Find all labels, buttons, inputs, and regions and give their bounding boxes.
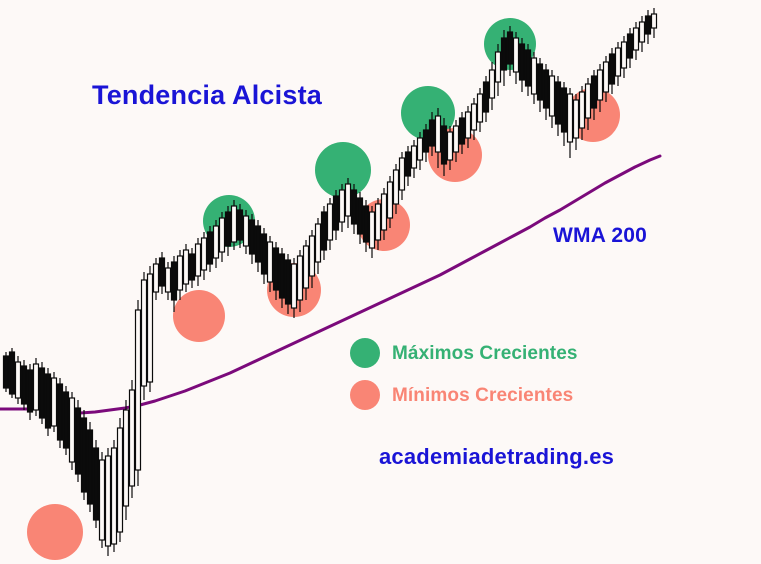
legend-item-maximos: Máximos Crecientes [350, 336, 578, 370]
candle-body-bear [46, 374, 51, 428]
candle-body-bear [250, 220, 255, 254]
candle-body-bull [418, 138, 423, 160]
candle-body-bull [316, 224, 321, 262]
candle-body-bear [322, 212, 327, 250]
candle-body-bear [160, 258, 165, 286]
candle-body-bull [154, 264, 159, 292]
candle-body-bull [328, 204, 333, 240]
candle-body-bear [172, 262, 177, 300]
candle-body-bull [214, 226, 219, 258]
candle-body-bull [382, 194, 387, 230]
candle-body-bull [454, 126, 459, 152]
candle-body-bear [442, 126, 447, 164]
candle-body-bear [508, 32, 513, 64]
candle-body-bear [502, 38, 507, 70]
candle-body-bull [202, 238, 207, 270]
candle-body-bull [586, 84, 591, 118]
candle-body-bear [562, 88, 567, 132]
candle-body-bull [310, 236, 315, 276]
candle-body-bear [334, 196, 339, 230]
candle-body-bull [490, 70, 495, 98]
candle-body-bull [130, 390, 135, 486]
candle-body-bear [538, 64, 543, 100]
candle-body-bear [88, 430, 93, 504]
candle-body-bear [274, 248, 279, 290]
candle-body-bull [298, 256, 303, 300]
candle-body-bull [640, 22, 645, 42]
legend-swatch-green-circle-icon [350, 338, 380, 368]
chart-legend: Máximos Crecientes Mínimos Crecientes [350, 336, 578, 412]
candle-body-bull [304, 246, 309, 288]
candle-body-bull [166, 268, 171, 292]
candle-body-bear [262, 234, 267, 274]
candle-body-bull [472, 104, 477, 130]
candle-body-bull [514, 38, 519, 72]
candle-body-bull [136, 310, 141, 470]
candle-body-bull [70, 398, 75, 462]
candle-body-bull [148, 274, 153, 382]
candle-body-bull [634, 28, 639, 50]
legend-label-maximos: Máximos Crecientes [392, 344, 578, 363]
candle-body-bear [460, 118, 465, 144]
candle-body-bull [184, 250, 189, 284]
candle-body-bull [34, 364, 39, 410]
candle-body-bear [64, 392, 69, 448]
candle-body-bear [280, 254, 285, 298]
candle-body-bear [208, 232, 213, 264]
candle-body-bear [358, 198, 363, 234]
candle-body-bear [226, 212, 231, 246]
candle-body-bear [76, 408, 81, 474]
candle-body-bull [652, 14, 657, 28]
candle-body-bear [520, 44, 525, 80]
candle-body-bear [646, 16, 651, 34]
candle-body-bull [448, 132, 453, 160]
candle-body-bull [550, 76, 555, 116]
candle-body-bull [616, 48, 621, 76]
candle-body-bear [22, 366, 27, 404]
candle-body-bull [196, 244, 201, 276]
candle-body-bull [268, 242, 273, 282]
candle-body-bull [52, 378, 57, 426]
candle-body-bull [394, 170, 399, 204]
candle-body-bear [10, 352, 15, 394]
candle-body-bull [580, 92, 585, 128]
candle-body-bull [496, 52, 501, 82]
candle-body-bear [256, 226, 261, 262]
candle-body-bull [604, 62, 609, 92]
candle-body-bull [532, 58, 537, 94]
candle-body-bear [526, 50, 531, 86]
candle-body-bear [424, 130, 429, 152]
legend-swatch-salmon-circle-icon [350, 380, 380, 410]
candle-body-bear [364, 206, 369, 242]
legend-item-minimos: Mínimos Crecientes [350, 378, 578, 412]
candle-body-bear [406, 152, 411, 176]
page-title: Tendencia Alcista [92, 82, 322, 109]
candle-body-bear [610, 54, 615, 84]
candle-body-bull [112, 448, 117, 544]
candle-body-bull [388, 182, 393, 218]
candle-body-bull [412, 146, 417, 168]
candle-body-bear [556, 82, 561, 124]
wma-200-label: WMA 200 [553, 225, 647, 246]
candle-body-bull [100, 460, 105, 540]
candle-body-bull [16, 362, 21, 398]
candle-body-bull [340, 190, 345, 222]
candle-body-bull [244, 216, 249, 246]
candle-body-bear [430, 120, 435, 146]
candle-body-bear [484, 82, 489, 112]
candle-body-bear [94, 448, 99, 520]
candle-body-bull [400, 158, 405, 190]
candle-body-bear [628, 34, 633, 58]
candle-body-bull [346, 184, 351, 216]
candle-body-bear [4, 356, 9, 388]
candle-body-bull [478, 94, 483, 122]
candle-body-bear [544, 70, 549, 108]
candle-body-bull [232, 206, 237, 242]
candle-body-bear [352, 190, 357, 224]
candle-body-bull [142, 280, 147, 386]
candle-body-bear [238, 210, 243, 240]
candle-body-bull [106, 456, 111, 546]
candle-body-bull [436, 116, 441, 152]
candle-body-bear [190, 254, 195, 280]
candle-body-bear [28, 370, 33, 412]
candle-body-bull [466, 112, 471, 138]
rising-lows-marker [27, 504, 83, 560]
candle-body-bear [40, 368, 45, 418]
legend-label-minimos: Mínimos Crecientes [392, 386, 573, 405]
candle-body-bull [568, 94, 573, 142]
candle-body-bull [598, 70, 603, 100]
candle-body-bull [376, 204, 381, 240]
candle-body-bull [118, 428, 123, 532]
candle-body-bull [292, 264, 297, 308]
candle-body-bear [58, 384, 63, 440]
chart-canvas: Tendencia Alcista WMA 200 Máximos Crecie… [0, 0, 761, 564]
candle-body-bear [82, 418, 87, 492]
candle-body-bear [592, 76, 597, 108]
candle-body-bull [622, 42, 627, 68]
candle-body-bull [220, 218, 225, 252]
candle-body-bull [370, 212, 375, 248]
candle-body-bull [178, 256, 183, 290]
candle-body-bull [124, 410, 129, 506]
candle-body-bear [286, 260, 291, 304]
candle-body-bull [574, 100, 579, 138]
site-watermark: academiadetrading.es [379, 446, 614, 468]
rising-lows-marker [173, 290, 225, 342]
